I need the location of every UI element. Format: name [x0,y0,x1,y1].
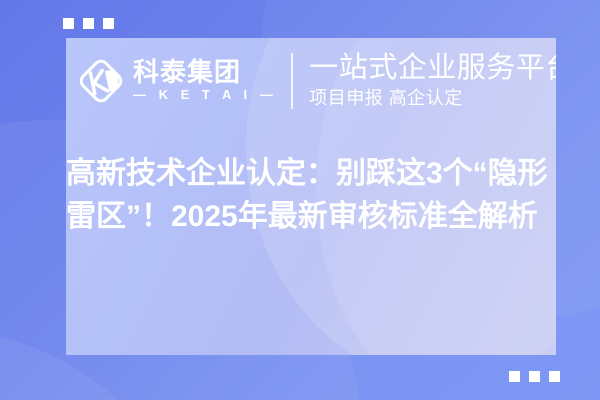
decor-square-icon [509,371,520,382]
slogan-sub-text: 项目申报 高企认定 [309,87,556,110]
ketai-diamond-monogram-logo-icon [76,56,126,106]
poster-banner: 科泰集团 — K E T A I — 一站式企业服务平台 项目申报 高企认定 高… [0,0,600,400]
brand-name-en: — K E T A I — [133,87,277,103]
decor-square-icon [63,18,74,29]
article-title: 高新技术企业认定：别踩这3个“隐形雷区”！2025年最新审核标准全解析 [66,153,554,238]
decor-square-icon [83,18,94,29]
bottom-right-square-decoration [509,371,560,382]
decor-square-icon [549,371,560,382]
content-card: 科泰集团 — K E T A I — 一站式企业服务平台 项目申报 高企认定 高… [66,38,556,355]
brand-wordmark: 科泰集团 — K E T A I — [133,59,277,103]
slogan-main-text: 一站式企业服务平台 [309,52,556,84]
brand-name-cn: 科泰集团 [133,59,277,86]
brand-logo: 科泰集团 — K E T A I — [72,56,277,106]
top-left-square-decoration [63,18,114,29]
decor-square-icon [529,371,540,382]
brand-header: 科泰集团 — K E T A I — 一站式企业服务平台 项目申报 高企认定 [72,44,556,118]
decor-square-icon [103,18,114,29]
header-divider [291,53,293,109]
brand-slogan: 一站式企业服务平台 项目申报 高企认定 [309,52,556,110]
